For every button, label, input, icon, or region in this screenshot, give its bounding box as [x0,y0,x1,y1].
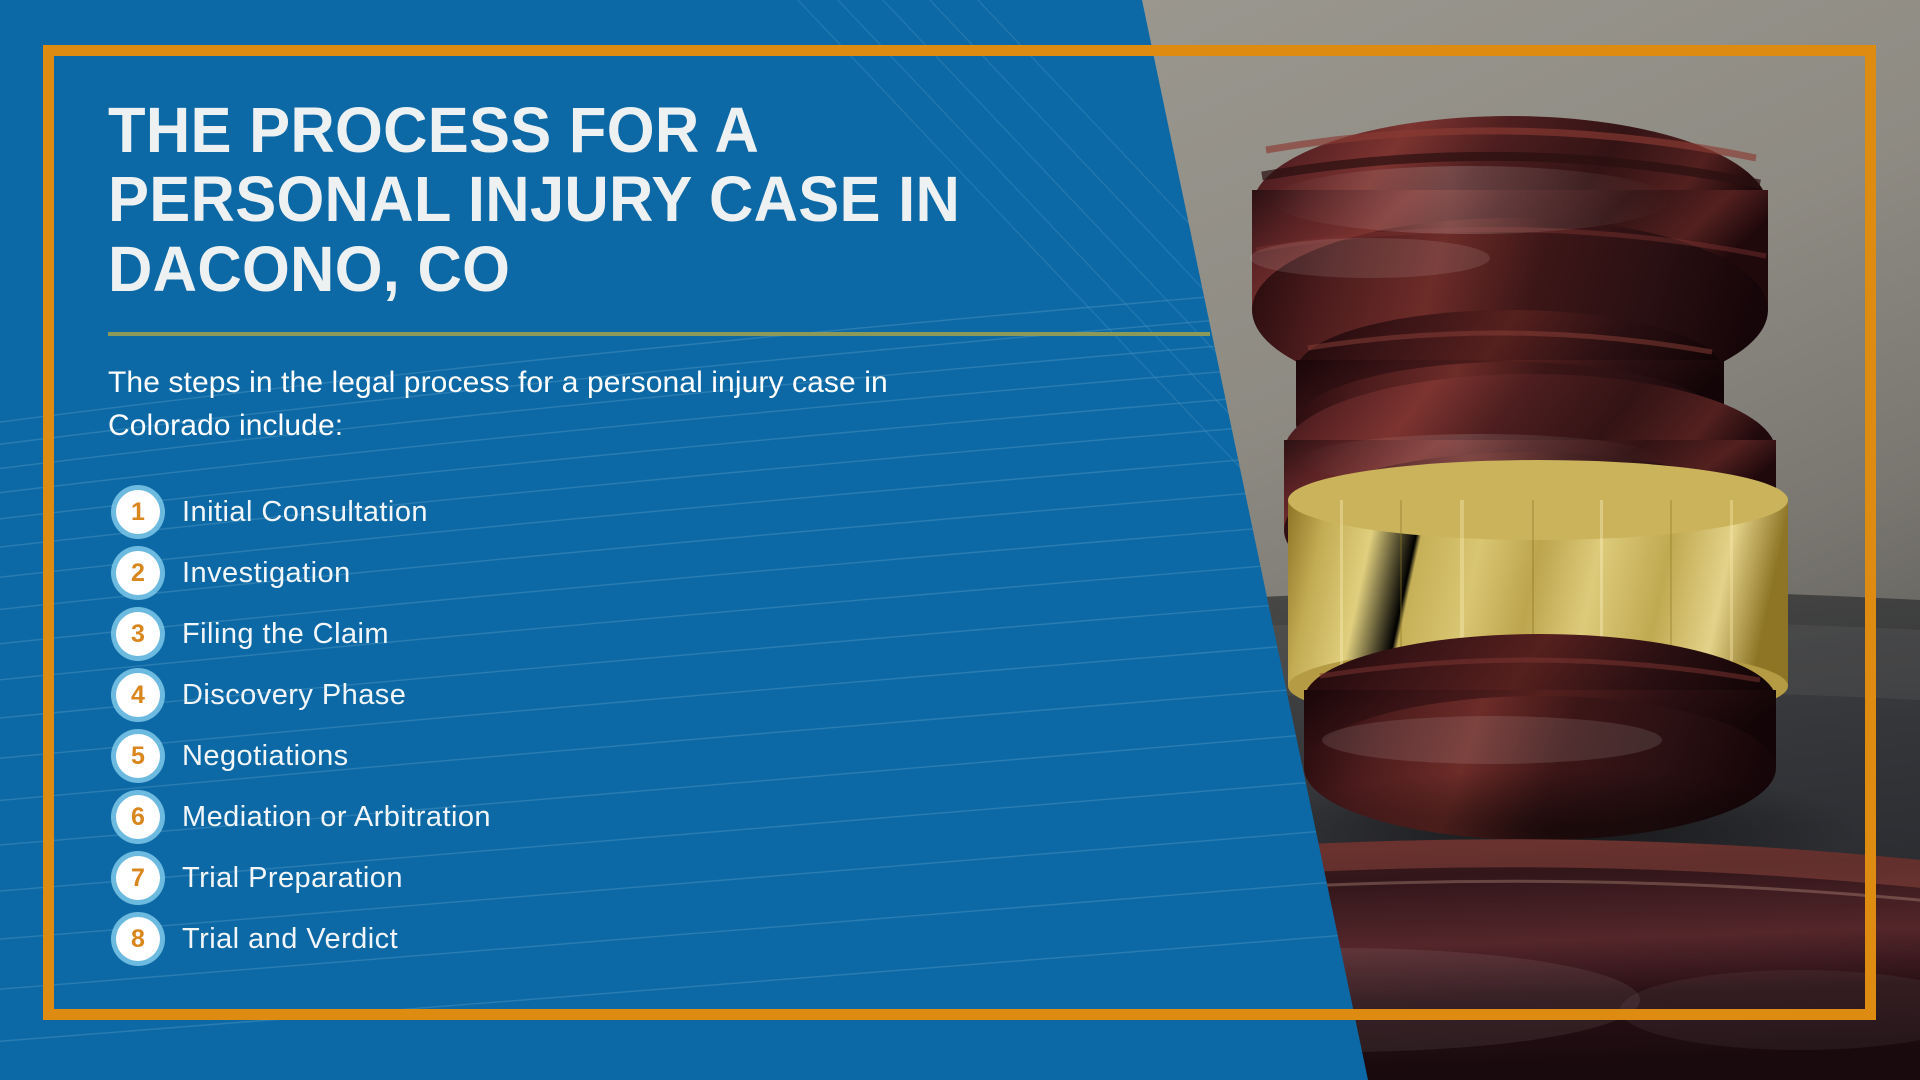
list-item: 2 Investigation [108,543,1218,604]
list-item: 3 Filing the Claim [108,604,1218,665]
content-column: The Process for a Personal Injury Case i… [108,96,1218,970]
steps-list: 1 Initial Consultation 2 Investigation 3… [108,482,1218,970]
step-number-badge: 4 [116,673,160,717]
step-label: Filing the Claim [182,618,389,651]
list-item: 7 Trial Preparation [108,848,1218,909]
list-item: 6 Mediation or Arbitration [108,787,1218,848]
step-number-badge: 1 [116,490,160,534]
list-item: 1 Initial Consultation [108,482,1218,543]
list-item: 5 Negotiations [108,726,1218,787]
step-number-badge: 7 [116,856,160,900]
list-item: 8 Trial and Verdict [108,909,1218,970]
step-number-badge: 6 [116,795,160,839]
step-number-badge: 5 [116,734,160,778]
title-divider [108,332,1210,336]
step-number-badge: 8 [116,917,160,961]
step-number-badge: 3 [116,612,160,656]
step-number-badge: 2 [116,551,160,595]
step-label: Mediation or Arbitration [182,801,491,834]
infographic-slide: The Process for a Personal Injury Case i… [0,0,1920,1080]
list-item: 4 Discovery Phase [108,665,1218,726]
step-label: Trial and Verdict [182,923,398,956]
step-label: Negotiations [182,740,349,773]
step-label: Initial Consultation [182,496,428,529]
step-label: Investigation [182,557,351,590]
subtitle-text: The steps in the legal process for a per… [108,362,1008,447]
step-label: Discovery Phase [182,679,406,712]
step-label: Trial Preparation [182,862,403,895]
page-title: The Process for a Personal Injury Case i… [108,96,1097,304]
